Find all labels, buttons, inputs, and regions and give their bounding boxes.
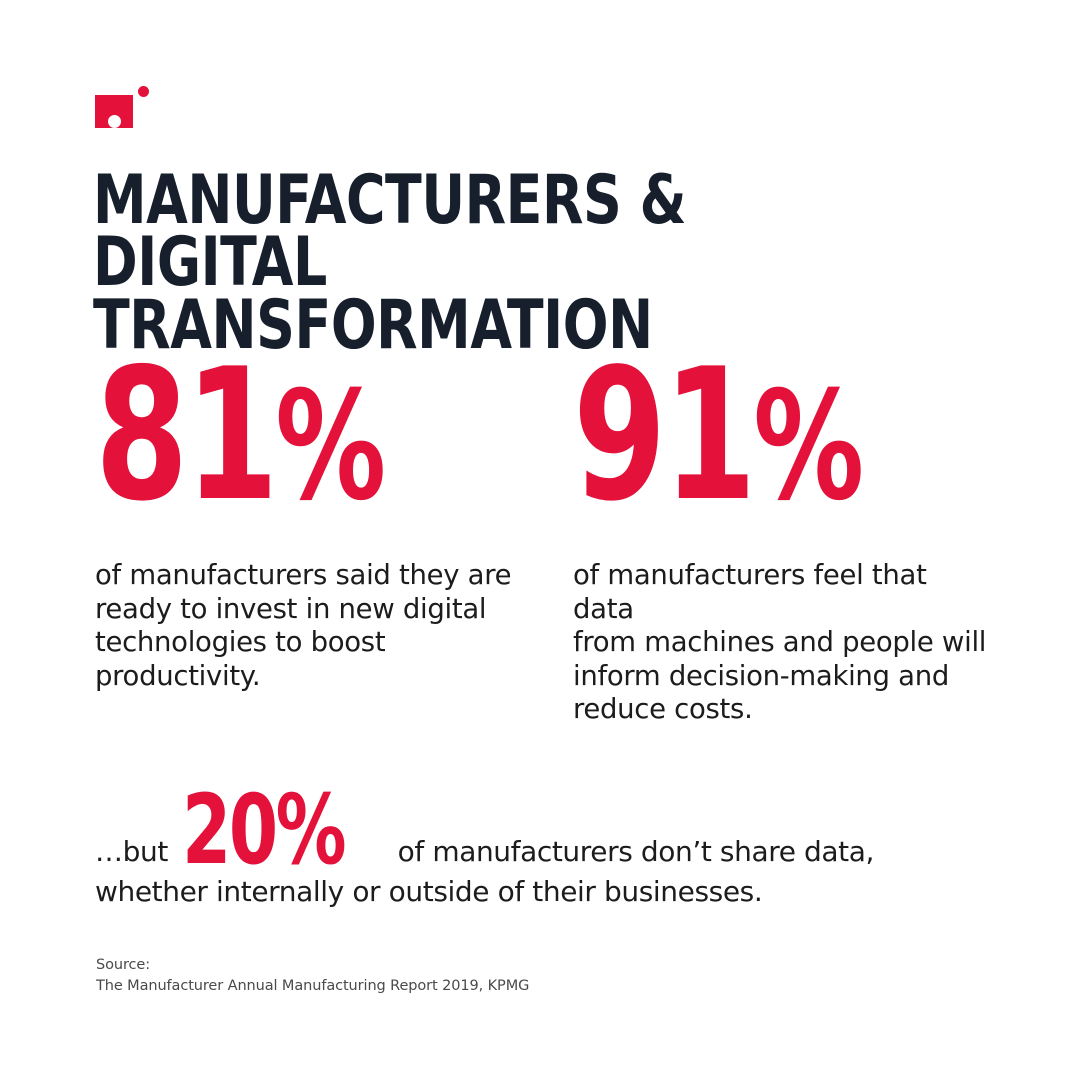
stat-number-20: 20% [182, 797, 344, 864]
stat-block-20: …but 20% of manufacturers don’t share da… [95, 795, 995, 910]
percent-sign-81: % [275, 360, 381, 534]
bottom-stat-line-1: …but 20% of manufacturers don’t share da… [95, 795, 995, 870]
brand-logo [95, 86, 155, 126]
stat-block-81: 81% of manufacturers said they are ready… [95, 360, 515, 721]
stat-block-91: 91% of manufacturers feel that data from… [573, 360, 993, 754]
stat-value-91: 91 [573, 329, 753, 541]
stat-description-81: of manufacturers said they are ready to … [95, 559, 515, 693]
percent-sign-20: % [276, 774, 344, 886]
stat-number-91: 91% [573, 360, 917, 511]
logo-circle-cutout-icon [108, 115, 121, 128]
stat-value-20: 20 [182, 774, 276, 886]
logo-square-icon [95, 95, 133, 128]
percent-sign-91: % [753, 360, 859, 534]
source-attribution: Source: The Manufacturer Annual Manufact… [96, 955, 529, 997]
infographic-poster: MANUFACTURERS & DIGITAL TRANSFORMATION 8… [0, 0, 1080, 1080]
stat-value-81: 81 [95, 329, 275, 541]
logo-dot-icon [138, 86, 149, 97]
stat-description-91: of manufacturers feel that data from mac… [573, 559, 993, 727]
bottom-stat-suffix: of manufacturers don’t share data, [398, 834, 874, 870]
bottom-stat-prefix: …but [95, 834, 168, 870]
stat-number-81: 81% [95, 360, 439, 511]
